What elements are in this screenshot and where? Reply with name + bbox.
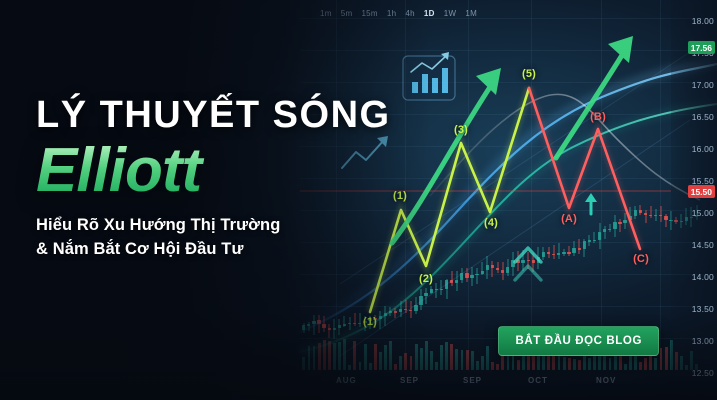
timeframe-1M[interactable]: 1M [465,9,477,18]
wave-label-b: (B) [590,111,606,123]
banner-root: (1) (1) (2) (3) (4) (5) (A) (B) (C) 1m5m… [0,0,717,400]
subtitle: Hiểu Rõ Xu Hướng Thị Trường & Nắm Bắt Cơ… [36,214,416,262]
price-badge-last: 17.56 [688,41,715,54]
subtitle-line-2: & Nắm Bắt Cơ Hội Đầu Tư [36,238,416,262]
chevron-stack-icon [515,248,541,280]
timeframe-1W[interactable]: 1W [444,9,457,18]
wave-label-5: (5) [522,68,536,80]
price-tick: 17.00 [692,80,714,90]
price-tick: 16.00 [692,144,714,154]
price-badge-level: 15.50 [688,185,715,198]
headline-block: LÝ THUYẾT SÓNG Elliott Hiểu Rõ Xu Hướng … [36,96,416,262]
price-tick: 16.50 [692,112,714,122]
cta-button[interactable]: BẮT ĐẦU ĐỌC BLOG [498,326,659,356]
subtitle-line-1: Hiểu Rõ Xu Hướng Thị Trường [36,214,416,238]
price-tick: 14.50 [692,240,714,250]
wave-label-c: (C) [633,253,649,265]
page-title: LÝ THUYẾT SÓNG [36,96,416,134]
small-up-arrow-icon [585,193,597,214]
price-tick: 14.00 [692,272,714,282]
wave-label-4: (4) [484,217,498,229]
wave-label-a: (A) [561,213,577,225]
price-tick: 18.00 [692,16,714,26]
page-title-highlight: Elliott [36,140,416,202]
price-tick: 15.00 [692,208,714,218]
wave-label-3: (3) [454,124,468,136]
